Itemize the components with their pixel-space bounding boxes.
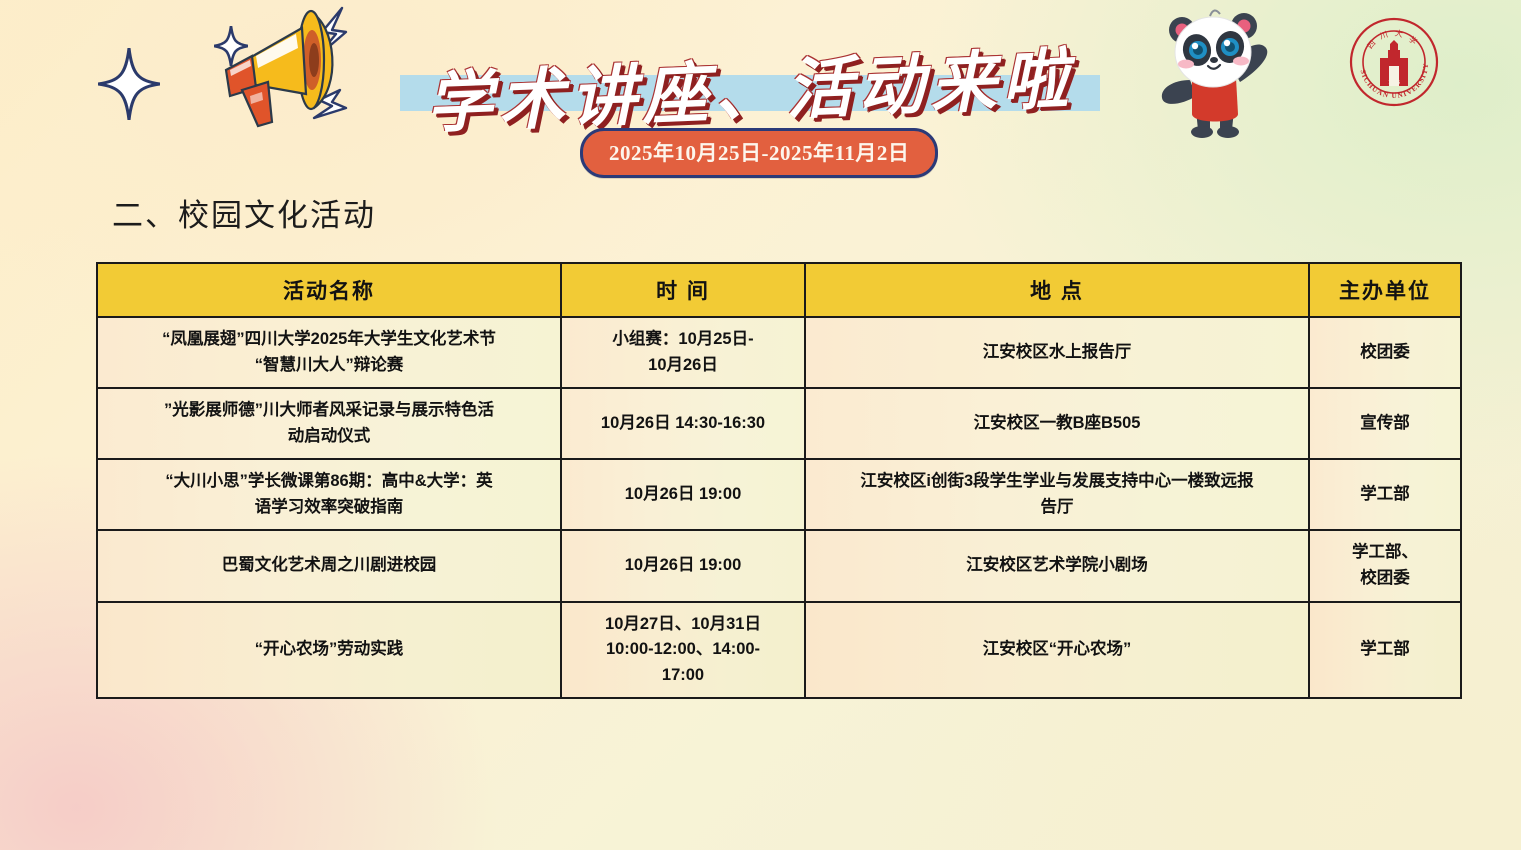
text-line: 江安校区艺术学院小剧场 — [818, 553, 1296, 579]
cell-organizer: 学工部、 校团委 — [1309, 530, 1461, 601]
sparkle-large-icon — [98, 48, 160, 120]
cell-organizer: 校团委 — [1309, 317, 1461, 388]
text-line: ”光影展师德”川大师者风采记录与展示特色活 — [110, 398, 548, 424]
poster-canvas: 学术讲座、活动来啦 2025年10月25日-2025年11月2日 — [0, 0, 1521, 850]
cell-time: 10月26日 19:00 — [561, 530, 805, 601]
cell-activity-name: “凤凰展翅”四川大学2025年大学生文化艺术节 “智慧川大人”辩论赛 — [97, 317, 561, 388]
text-line: 校团委 — [1322, 566, 1448, 592]
cell-location: 江安校区艺术学院小剧场 — [805, 530, 1309, 601]
cell-time: 小组赛：10月25日- 10月26日 — [561, 317, 805, 388]
cell-time: 10月26日 14:30-16:30 — [561, 388, 805, 459]
table-row: “开心农场”劳动实践 10月27日、10月31日 10:00-12:00、14:… — [97, 602, 1461, 699]
schedule-table-wrap: 活动名称 时 间 地 点 主办单位 “凤凰展翅”四川大学2025年大学生文化艺术… — [96, 262, 1444, 699]
text-line: 江安校区“开心农场” — [818, 637, 1296, 663]
text-line: “大川小思”学长微课第86期：高中&大学：英 — [110, 469, 548, 495]
cell-location: 江安校区一教B座B505 — [805, 388, 1309, 459]
table-header: 活动名称 时 间 地 点 主办单位 — [97, 263, 1461, 317]
text-line: 江安校区一教B座B505 — [818, 411, 1296, 437]
cell-organizer: 学工部 — [1309, 459, 1461, 530]
text-line: 学工部 — [1322, 637, 1448, 663]
column-header-activity-name: 活动名称 — [97, 263, 561, 317]
cell-activity-name: “开心农场”劳动实践 — [97, 602, 561, 699]
column-header-organizer: 主办单位 — [1309, 263, 1461, 317]
section-heading: 二、校园文化活动 — [112, 190, 376, 235]
schedule-table: 活动名称 时 间 地 点 主办单位 “凤凰展翅”四川大学2025年大学生文化艺术… — [96, 262, 1462, 699]
text-line: “开心农场”劳动实践 — [110, 637, 548, 663]
cell-organizer: 学工部 — [1309, 602, 1461, 699]
text-line: 10月26日 19:00 — [574, 482, 792, 508]
text-line: 动启动仪式 — [110, 424, 548, 450]
panda-mascot-icon — [1148, 2, 1278, 145]
text-line: 告厅 — [818, 495, 1296, 521]
cell-location: 江安校区水上报告厅 — [805, 317, 1309, 388]
text-line: 10月26日 14:30-16:30 — [574, 411, 792, 437]
text-line: 语学习效率突破指南 — [110, 495, 548, 521]
text-line: 17:00 — [574, 663, 792, 689]
text-line: “凤凰展翅”四川大学2025年大学生文化艺术节 — [110, 327, 548, 353]
sichuan-university-logo-icon: 四 川 大 学 SICHUAN UNIVERSITY 1896 — [1348, 16, 1440, 113]
text-line: 10月26日 19:00 — [574, 553, 792, 579]
text-line: 巴蜀文化艺术周之川剧进校园 — [110, 553, 548, 579]
text-line: 小组赛：10月25日- — [574, 327, 792, 353]
table-row: 巴蜀文化艺术周之川剧进校园 10月26日 19:00 江安校区艺术学院小剧场 学… — [97, 530, 1461, 601]
svg-text:1896: 1896 — [1388, 80, 1400, 86]
text-line: 学工部 — [1322, 482, 1448, 508]
text-line: “智慧川大人”辩论赛 — [110, 353, 548, 379]
megaphone-icon — [190, 4, 390, 159]
column-header-time: 时 间 — [561, 263, 805, 317]
cell-activity-name: 巴蜀文化艺术周之川剧进校园 — [97, 530, 561, 601]
cell-organizer: 宣传部 — [1309, 388, 1461, 459]
text-line: 10月26日 — [574, 353, 792, 379]
column-header-location: 地 点 — [805, 263, 1309, 317]
cell-activity-name: “大川小思”学长微课第86期：高中&大学：英 语学习效率突破指南 — [97, 459, 561, 530]
table-header-row: 活动名称 时 间 地 点 主办单位 — [97, 263, 1461, 317]
text-line: 江安校区i创街3段学生学业与发展支持中心一楼致远报 — [818, 469, 1296, 495]
text-line: 江安校区水上报告厅 — [818, 340, 1296, 366]
text-line: 校团委 — [1322, 340, 1448, 366]
poster-title-block: 学术讲座、活动来啦 — [400, 28, 1100, 128]
cell-activity-name: ”光影展师德”川大师者风采记录与展示特色活 动启动仪式 — [97, 388, 561, 459]
text-line: 学工部、 — [1322, 540, 1448, 566]
table-row: “凤凰展翅”四川大学2025年大学生文化艺术节 “智慧川大人”辩论赛 小组赛：1… — [97, 317, 1461, 388]
table-row: “大川小思”学长微课第86期：高中&大学：英 语学习效率突破指南 10月26日 … — [97, 459, 1461, 530]
table-body: “凤凰展翅”四川大学2025年大学生文化艺术节 “智慧川大人”辩论赛 小组赛：1… — [97, 317, 1461, 698]
cell-time: 10月26日 19:00 — [561, 459, 805, 530]
table-row: ”光影展师德”川大师者风采记录与展示特色活 动启动仪式 10月26日 14:30… — [97, 388, 1461, 459]
text-line: 10:00-12:00、14:00- — [574, 637, 792, 663]
cell-location: 江安校区“开心农场” — [805, 602, 1309, 699]
date-range-badge: 2025年10月25日-2025年11月2日 — [580, 128, 938, 178]
text-line: 10月27日、10月31日 — [574, 612, 792, 638]
cell-location: 江安校区i创街3段学生学业与发展支持中心一楼致远报 告厅 — [805, 459, 1309, 530]
text-line: 宣传部 — [1322, 411, 1448, 437]
cell-time: 10月27日、10月31日 10:00-12:00、14:00- 17:00 — [561, 602, 805, 699]
